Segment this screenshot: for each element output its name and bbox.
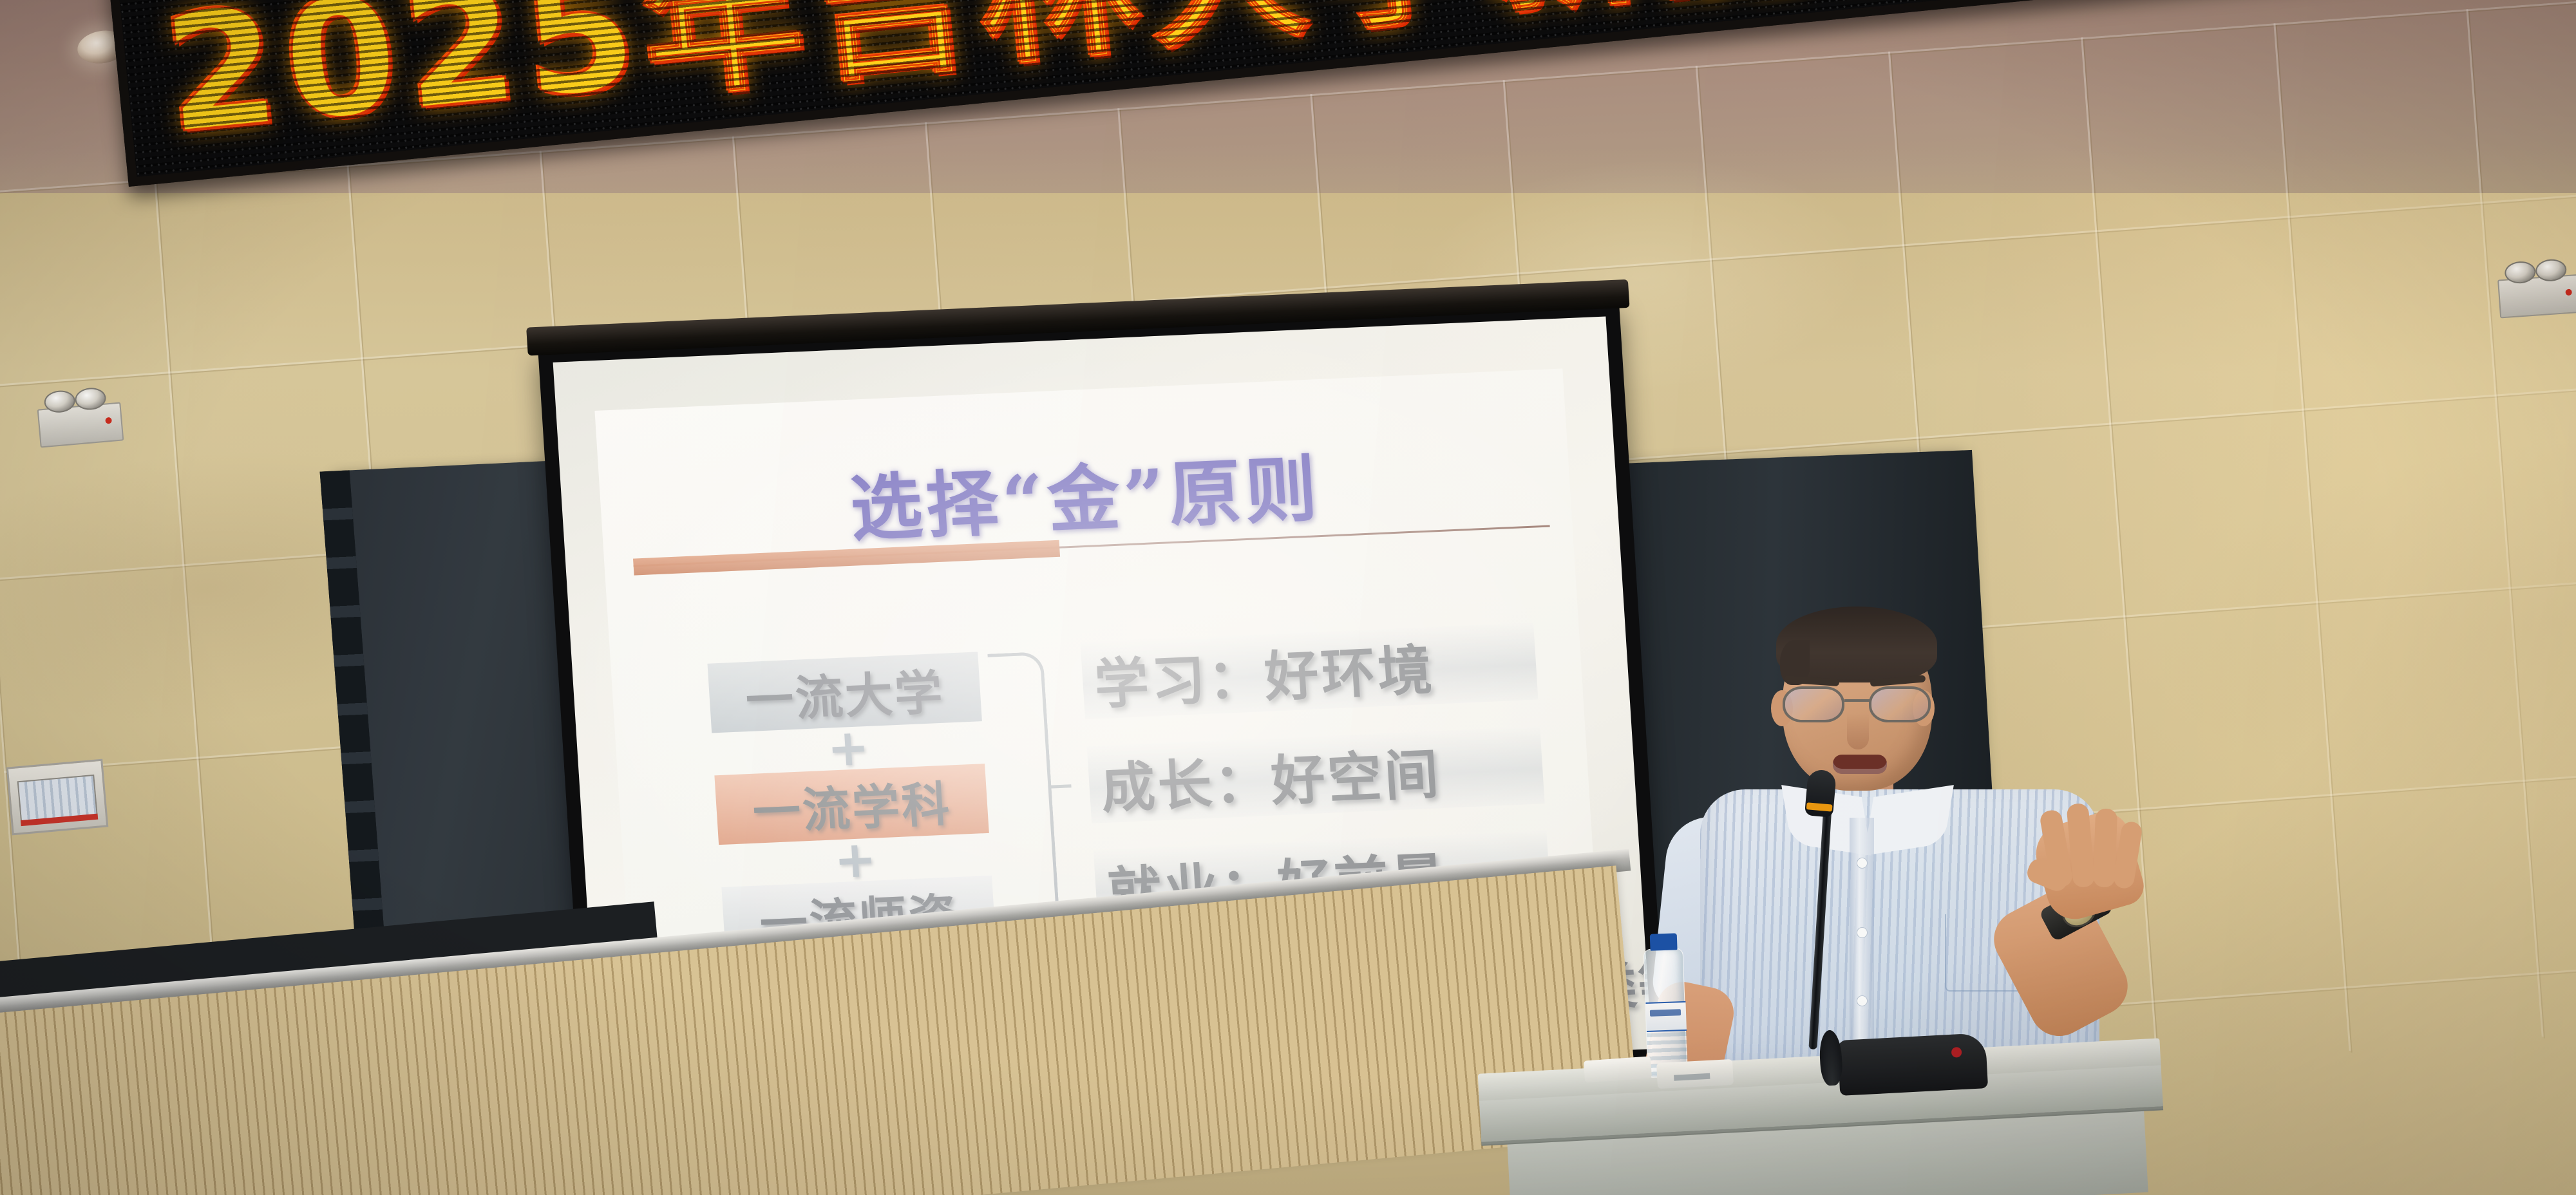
glasses-lens: [1869, 686, 1931, 722]
electrical-panel-icon: [6, 759, 109, 836]
bottle-cap: [1650, 933, 1678, 950]
status-indicator: [2565, 289, 2572, 296]
tissue-packet: [1584, 1056, 1652, 1082]
black-bag: [1837, 1033, 1988, 1096]
glasses-lens: [1783, 686, 1844, 722]
speaker-nose: [1847, 713, 1869, 749]
shirt-button: [1857, 927, 1868, 938]
glasses-bridge: [1844, 699, 1870, 702]
shirt-button: [1857, 858, 1868, 869]
benefit-row-growth: 成长：好空间: [1087, 726, 1545, 823]
status-indicator: [105, 417, 112, 424]
emergency-light-icon: [37, 402, 124, 447]
speaker-mouth: [1833, 755, 1887, 774]
lecture-hall-photo: 选择“金”原则 一流大学 + 一流学科 + 一流师资 学习：好环境 成长：好空间…: [0, 0, 2576, 1195]
tissue-packet: [1656, 1059, 1734, 1089]
curly-brace-icon: [987, 652, 1059, 924]
slide-title: 选择“金”原则: [598, 420, 1572, 566]
speaker-hair: [1776, 607, 1937, 682]
emergency-light-icon: [2497, 274, 2576, 319]
microphone-icon: [1804, 769, 1837, 818]
shirt-button: [1857, 995, 1868, 1006]
benefit-row-study: 学习：好环境: [1080, 623, 1538, 719]
bottle-label: [1645, 1001, 1687, 1032]
